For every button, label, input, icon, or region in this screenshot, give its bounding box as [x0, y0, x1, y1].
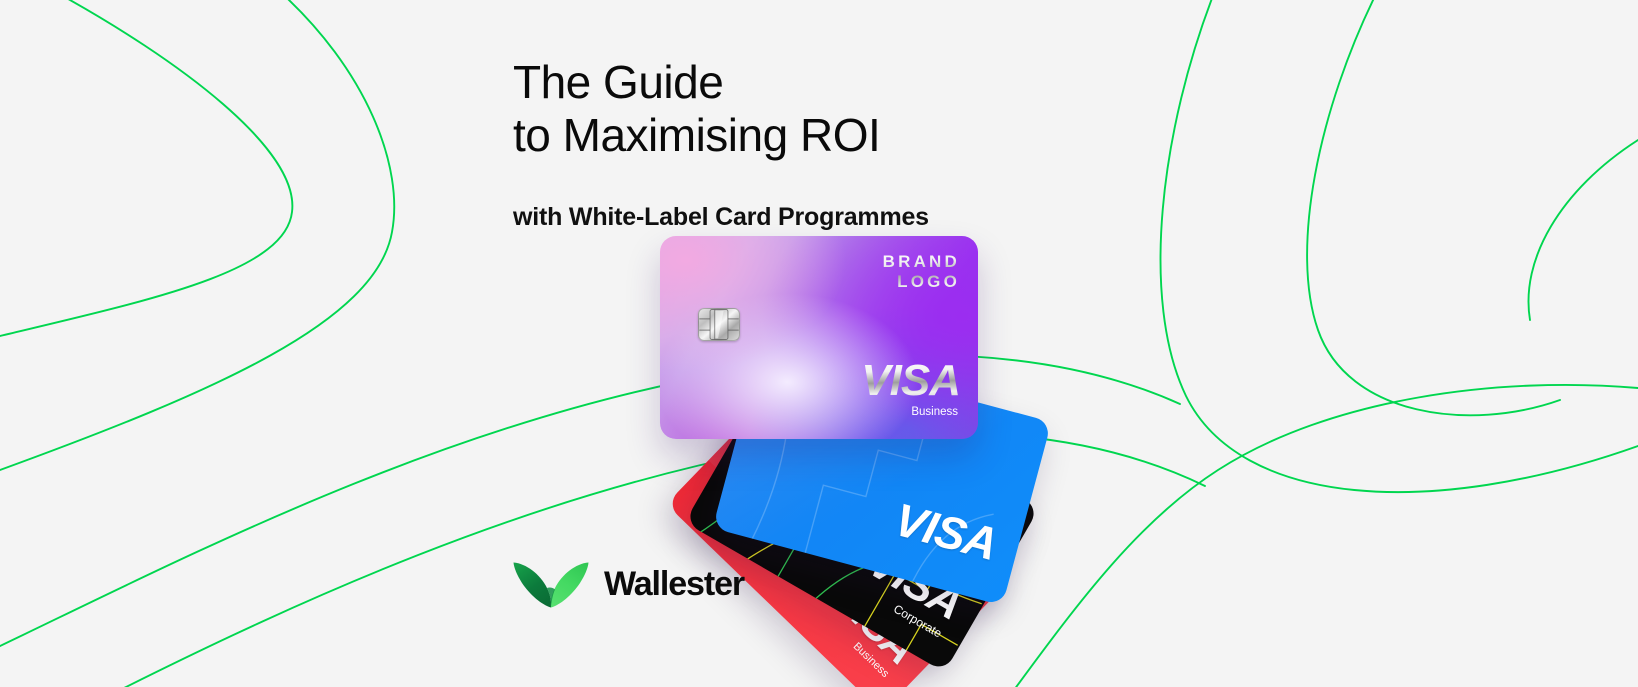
visa-tier-label: Business [911, 407, 958, 419]
brand-logo[interactable]: Wallester [512, 560, 744, 608]
poster-canvas: The Guide to Maximising ROI with White-L… [0, 0, 1638, 687]
card-visa-business-purple: BRAND LOGO VISA Business [660, 236, 978, 439]
brand-wordmark: Wallester [604, 565, 744, 604]
emv-chip-icon [698, 308, 740, 341]
visa-wordmark: VISA [861, 359, 960, 403]
page-subtitle: with White-Label Card Programmes [513, 201, 1153, 234]
wallester-butterfly-icon [512, 560, 590, 608]
hero-text-block: The Guide to Maximising ROI with White-L… [513, 56, 1153, 233]
brand-logo-placeholder: BRAND LOGO [883, 252, 960, 292]
page-title: The Guide to Maximising ROI [513, 56, 1153, 163]
